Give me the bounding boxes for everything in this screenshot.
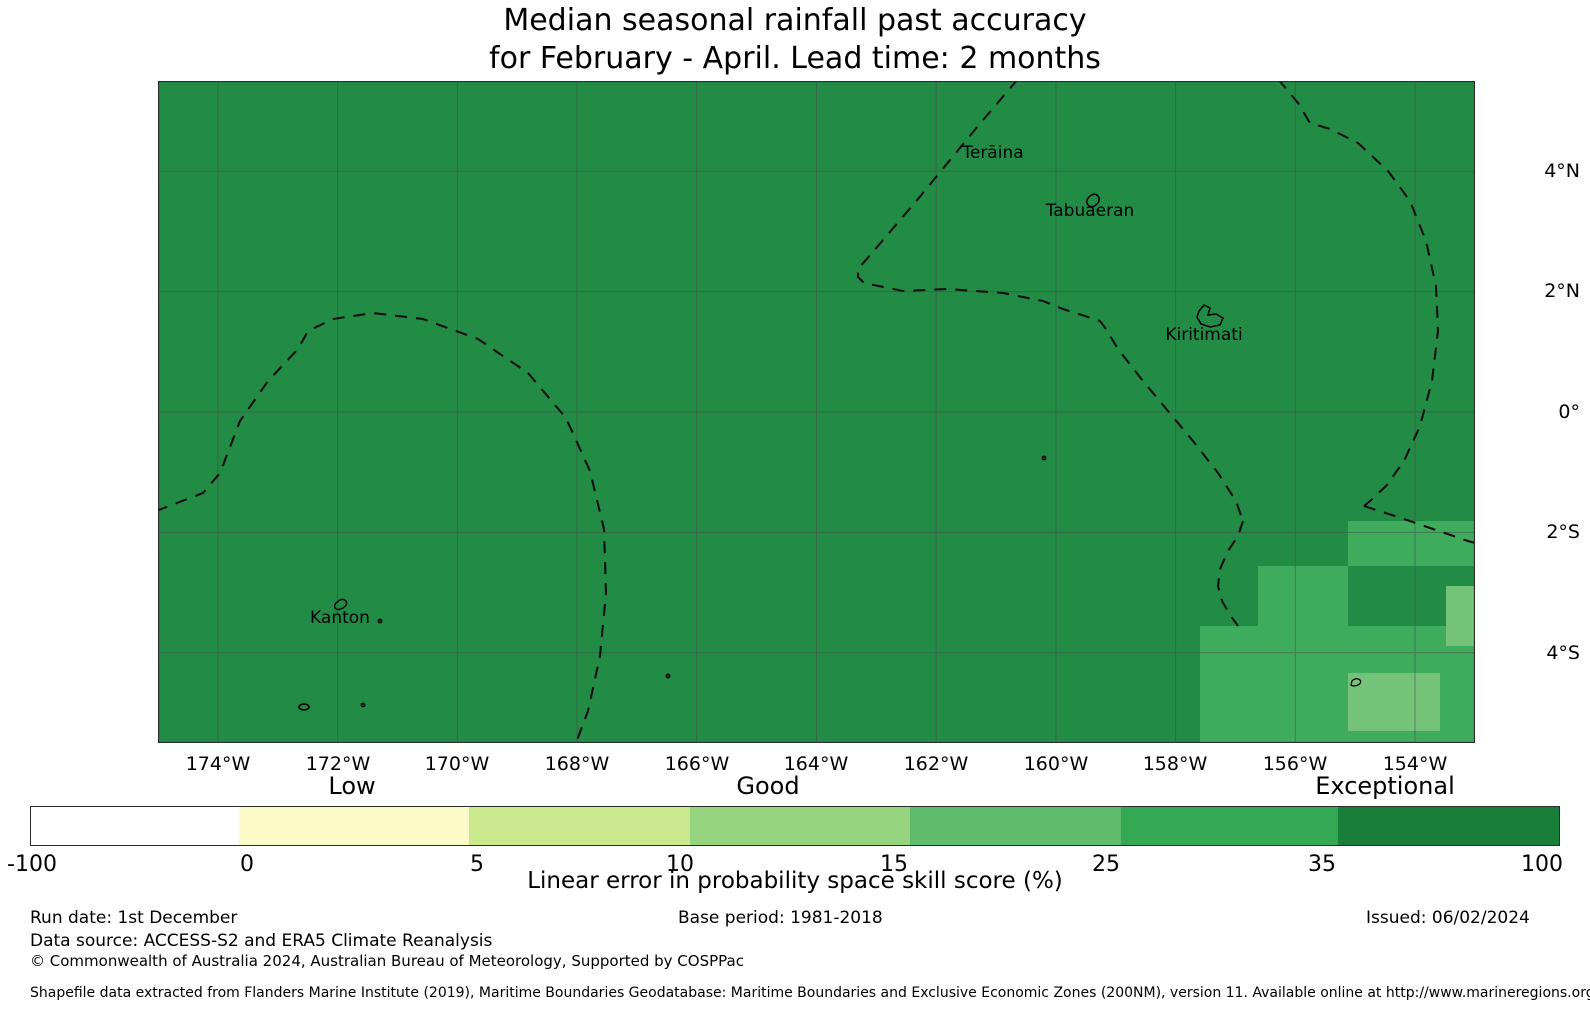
x-tick-170W: 170°W [425, 753, 490, 775]
colorbar-category-good: Good [736, 772, 799, 800]
colorbar-segment-10-15 [690, 807, 910, 845]
x-tick-166W: 166°W [665, 753, 730, 775]
colorbar-category-low: Low [328, 772, 375, 800]
footer-copyright: © Commonwealth of Australia 2024, Austra… [30, 952, 744, 970]
colorbar-segment--100-0 [31, 807, 239, 845]
footer-issued-date: Issued: 06/02/2024 [1366, 908, 1530, 928]
y-tick-4N: 4°N [1544, 160, 1580, 182]
skill-cell-15-25-b [1446, 586, 1475, 646]
skill-cell-25-35-c [1200, 626, 1258, 743]
y-tick-0: 0° [1558, 401, 1580, 423]
footer-run-date: Run date: 1st December [30, 908, 237, 928]
colorbar-category-exceptional: Exceptional [1315, 772, 1455, 800]
x-tick-168W: 168°W [545, 753, 610, 775]
skill-cell-25-35-b [1348, 521, 1475, 566]
map-label-kanton: Kanton [310, 608, 370, 628]
footer-data-source: Data source: ACCESS-S2 and ERA5 Climate … [30, 931, 492, 951]
colorbar-segment-25-35 [1121, 807, 1338, 845]
x-tick-158W: 158°W [1143, 753, 1208, 775]
colorbar-gradient [30, 806, 1560, 846]
x-tick-160W: 160°W [1024, 753, 1089, 775]
map-plot: Terāina Tabuaeran Kiritimati Kanton [158, 81, 1475, 743]
map-svg: Terāina Tabuaeran Kiritimati Kanton [158, 81, 1475, 743]
map-label-teraina: Terāina [961, 143, 1023, 163]
page-title: Median seasonal rainfall past accuracy f… [0, 2, 1590, 78]
map-label-kiritimati: Kiritimati [1165, 325, 1242, 345]
colorbar-segment-35-100 [1338, 807, 1559, 845]
y-tick-2S: 2°S [1546, 521, 1580, 543]
x-tick-174W: 174°W [186, 753, 251, 775]
y-tick-2N: 2°N [1544, 280, 1580, 302]
skill-cell-15-25-a [1348, 673, 1440, 731]
x-tick-162W: 162°W [904, 753, 969, 775]
colorbar-segment-0-5 [239, 807, 468, 845]
map-label-tabuaeran: Tabuaeran [1045, 201, 1135, 221]
colorbar: -100 0 5 10 15 25 35 100 [30, 806, 1560, 846]
colorbar-title: Linear error in probability space skill … [0, 868, 1590, 894]
y-tick-4S: 4°S [1546, 642, 1580, 664]
footer-base-period: Base period: 1981-2018 [678, 908, 883, 928]
footer-shapefile-credit: Shapefile data extracted from Flanders M… [30, 985, 1590, 1001]
colorbar-segment-5-10 [469, 807, 691, 845]
colorbar-segment-15-25 [910, 807, 1121, 845]
